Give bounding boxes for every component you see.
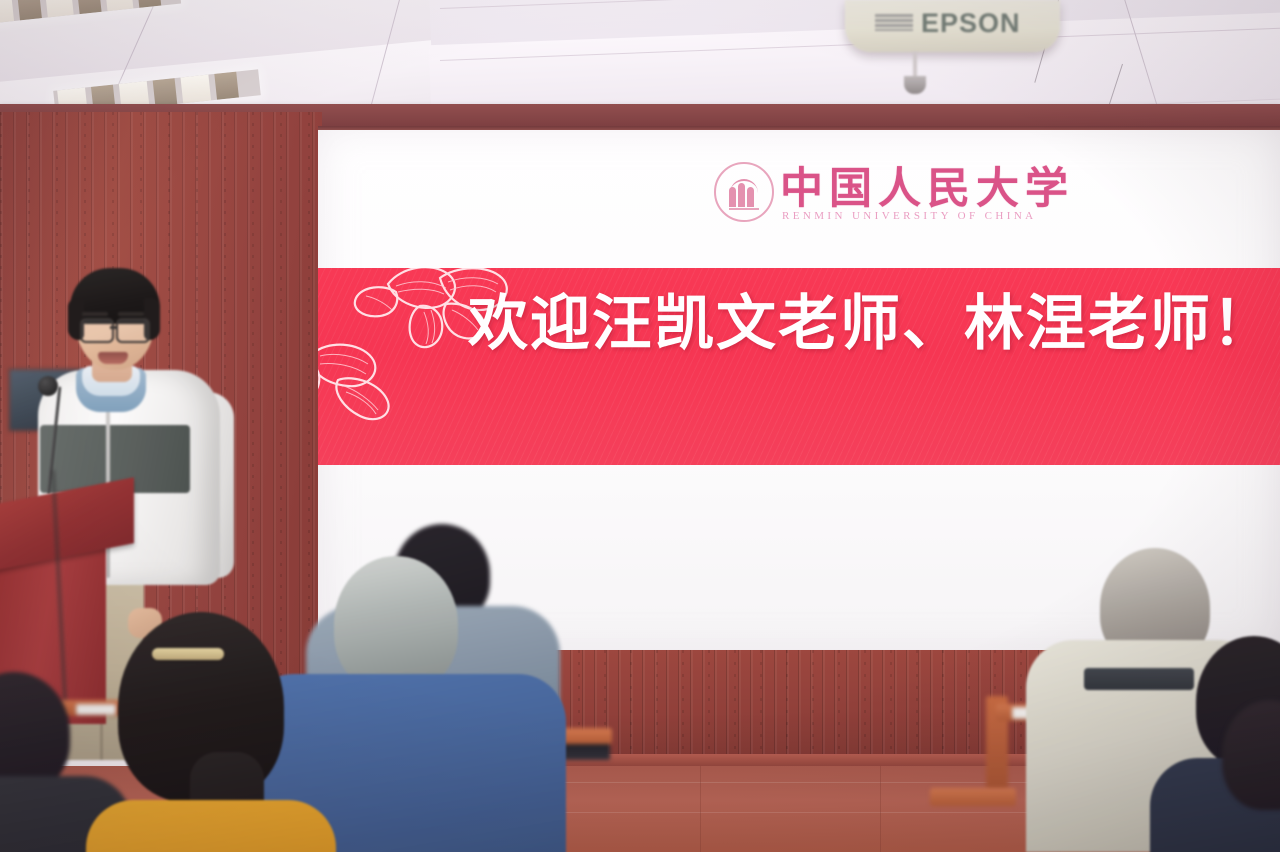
microphone-icon: [38, 376, 58, 396]
speaker-eyebrow: [82, 312, 108, 316]
hair-clip-icon: [152, 648, 224, 660]
university-name-en: RENMIN UNIVERSITY OF CHINA: [782, 210, 1037, 222]
university-name-cn: 中国人民大学: [780, 154, 1074, 216]
glasses-icon: [80, 318, 114, 343]
glasses-bridge: [110, 326, 118, 329]
screen-top-edge: [318, 126, 1280, 130]
epson-projector: EPSON: [845, 0, 1060, 52]
renmin-university-seal-icon: [714, 162, 774, 222]
speaker-eyebrow: [118, 312, 144, 316]
audience-head: [334, 556, 458, 692]
audience-shoulders: [86, 800, 336, 852]
magnolia-ornament-icon: [318, 330, 436, 450]
speaker-mouth: [98, 352, 128, 364]
welcome-headline: 欢迎汪凯文老师、林涅老师！: [468, 294, 1270, 354]
glasses-icon: [116, 318, 150, 343]
epson-logo-icon: [875, 14, 913, 31]
university-logo: 中国人民大学 RENMIN UNIVERSITY OF CHINA: [714, 154, 1044, 230]
projector-brand-label: EPSON: [921, 8, 1021, 39]
jacket-collar: [1084, 668, 1194, 690]
projector-mount: [900, 52, 930, 94]
photo-scene: EPSON 中国人民大学 RENMIN UNIVERSITY OF: [0, 0, 1280, 852]
welcome-banner-band: 欢迎汪凯文老师、林涅老师！: [318, 268, 1280, 465]
